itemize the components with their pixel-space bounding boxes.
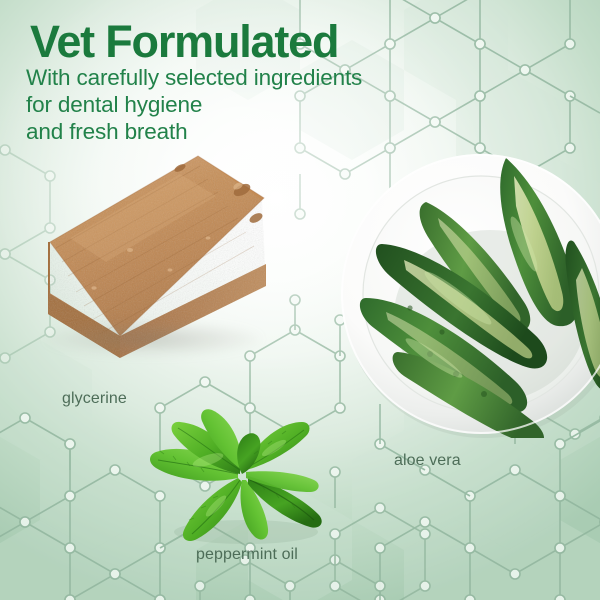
- ingredient-label-peppermint-oil: peppermint oil: [196, 546, 298, 564]
- soap-bar-photo: [30, 146, 280, 366]
- subheading-line-1: With carefully selected ingredients: [26, 64, 362, 91]
- soap-bar-shadow: [44, 322, 262, 356]
- marketing-image-canvas: Vet Formulated With carefully selected i…: [0, 0, 600, 600]
- aloe-vera-plate-photo: [338, 148, 600, 438]
- peppermint-sprig-photo: [142, 408, 347, 548]
- page-title: Vet Formulated: [30, 18, 338, 65]
- subheading: With carefully selected ingredients for …: [26, 64, 362, 145]
- ingredient-label-aloe-vera: aloe vera: [394, 452, 461, 470]
- ingredient-label-glycerine: glycerine: [62, 390, 127, 408]
- subheading-line-3: and fresh breath: [26, 118, 362, 145]
- subheading-line-2: for dental hygiene: [26, 91, 362, 118]
